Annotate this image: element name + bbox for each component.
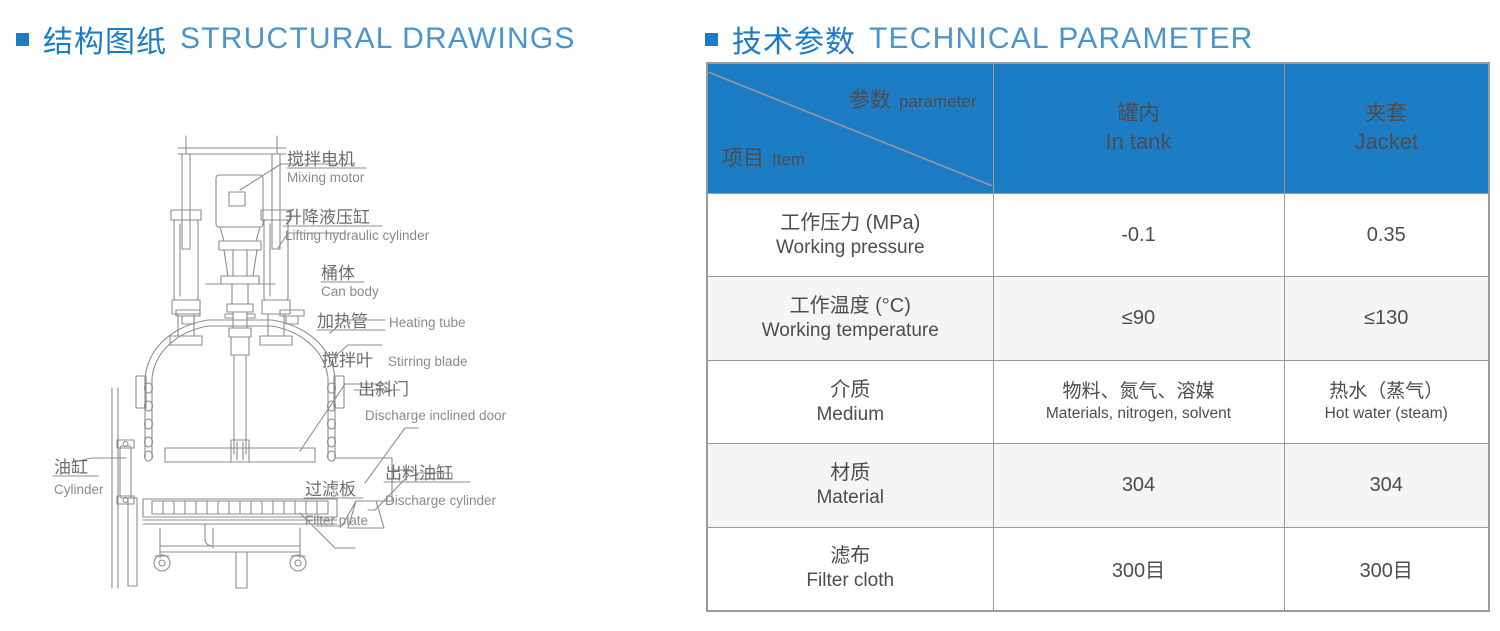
square-bullet-icon [705, 33, 718, 46]
section-title-cn: 结构图纸 [43, 17, 167, 61]
value-jacket: 304 [1284, 444, 1489, 527]
table-row: 工作压力 (MPa) Working pressure -0.1 0.35 [707, 194, 1489, 277]
callout-cn: 出斜门 [358, 380, 409, 399]
item-label-en: Material [715, 486, 986, 511]
table-header-row: 参数 parameter 项目 Item 罐内 In tank [707, 63, 1489, 194]
callout-en: Heating tube [389, 315, 466, 330]
callout-cn: 升降液压缸 [285, 207, 370, 227]
callout-cn: 出料油缸 [385, 463, 453, 483]
value-jacket: 0.35 [1284, 194, 1489, 277]
header-column-in-tank: 罐内 In tank [993, 63, 1284, 194]
item-label-en: Working pressure [715, 236, 986, 261]
page-root: 结构图纸 STRUCTURAL DRAWINGS 技术参数 TECHNICAL … [0, 0, 1500, 631]
callout-stirring-blade: 搅拌叶 Stirring blade [322, 351, 468, 370]
callout-cylinder: 油缸 Cylinder [54, 457, 104, 497]
section-heading-structural-drawings: 结构图纸 STRUCTURAL DRAWINGS [16, 17, 576, 61]
table-row: 滤布 Filter cloth 300目 300目 [707, 527, 1489, 611]
callout-en: Lifting hydraulic cylinder [285, 228, 430, 243]
value-in-tank: 304 [993, 444, 1284, 527]
item-label-en: Working temperature [715, 319, 986, 344]
square-bullet-icon [16, 33, 29, 46]
callout-en: Discharge cylinder [385, 493, 497, 508]
column-title-cn: 罐内 [994, 101, 1284, 128]
value-in-tank: 物料、氮气、溶媒 Materials, nitrogen, solvent [993, 360, 1284, 443]
callout-discharge-inclined-door: 出斜门 Discharge inclined door [358, 380, 507, 423]
item-label-cn: 滤布 [715, 543, 986, 569]
section-title-en: STRUCTURAL DRAWINGS [180, 22, 576, 56]
machine-line-drawing: 搅拌电机 Mixing motor 升降液压缸 Lifting hydrauli… [0, 58, 700, 618]
callout-cn: 搅拌叶 [322, 351, 373, 370]
value-in-tank: 300目 [993, 527, 1284, 611]
header-item-cn: 项目 [722, 142, 764, 172]
value-en: Hot water (steam) [1292, 404, 1482, 425]
callout-en: Stirring blade [388, 354, 468, 369]
row-item-cell: 工作压力 (MPa) Working pressure [707, 194, 993, 277]
value-cn: 物料、氮气、溶媒 [1001, 379, 1277, 405]
column-title-cn: 夹套 [1285, 101, 1489, 128]
callout-cn: 加热管 [317, 312, 368, 331]
callout-heating-tube: 加热管 Heating tube [317, 312, 466, 331]
section-title-en: TECHNICAL PARAMETER [869, 22, 1254, 56]
item-label-cn: 工作压力 (MPa) [715, 210, 986, 236]
callout-en: Discharge inclined door [365, 408, 507, 423]
value-jacket: ≤130 [1284, 277, 1489, 360]
item-label-cn: 材质 [715, 460, 986, 486]
value-jacket: 热水（蒸气） Hot water (steam) [1284, 360, 1489, 443]
value-in-tank: ≤90 [993, 277, 1284, 360]
header-parameter-en: parameter [899, 92, 976, 112]
callout-mixing-motor: 搅拌电机 Mixing motor [287, 150, 365, 185]
header-column-jacket: 夹套 Jacket [1284, 63, 1489, 194]
item-label-cn: 工作温度 (°C) [715, 293, 986, 319]
value-cn: 热水（蒸气） [1292, 379, 1482, 405]
table-row: 材质 Material 304 304 [707, 444, 1489, 527]
callout-en: Cylinder [54, 482, 104, 497]
row-item-cell: 介质 Medium [707, 360, 993, 443]
item-label-en: Medium [715, 403, 986, 428]
table-row: 介质 Medium 物料、氮气、溶媒 Materials, nitrogen, … [707, 360, 1489, 443]
callout-cn: 油缸 [54, 457, 88, 477]
value-en: Materials, nitrogen, solvent [1001, 404, 1277, 425]
table-row: 工作温度 (°C) Working temperature ≤90 ≤130 [707, 277, 1489, 360]
row-item-cell: 工作温度 (°C) Working temperature [707, 277, 993, 360]
technical-parameter-table: 参数 parameter 项目 Item 罐内 In tank [706, 62, 1490, 612]
callout-cn: 过滤板 [305, 480, 356, 499]
callout-can-body: 桶体 Can body [321, 264, 379, 299]
callout-cn: 桶体 [321, 264, 355, 283]
callout-discharge-cylinder: 出料油缸 Discharge cylinder [385, 463, 497, 508]
callout-en: Mixing motor [287, 170, 365, 185]
callout-en: Can body [321, 284, 379, 299]
section-title-cn: 技术参数 [732, 17, 856, 61]
callout-lifting-hydraulic-cylinder: 升降液压缸 Lifting hydraulic cylinder [285, 207, 430, 243]
value-jacket: 300目 [1284, 527, 1489, 611]
column-title-en: Jacket [1285, 128, 1489, 156]
value-in-tank: -0.1 [993, 194, 1284, 277]
row-item-cell: 滤布 Filter cloth [707, 527, 993, 611]
header-corner-cell: 参数 parameter 项目 Item [707, 63, 993, 194]
item-label-en: Filter cloth [715, 569, 986, 594]
callout-en: Filter plate [305, 513, 368, 528]
callout-cn: 搅拌电机 [287, 150, 355, 169]
row-item-cell: 材质 Material [707, 444, 993, 527]
header-parameter-cn: 参数 [849, 84, 891, 114]
header-item-en: Item [772, 150, 805, 170]
column-title-en: In tank [994, 128, 1284, 156]
section-heading-technical-parameter: 技术参数 TECHNICAL PARAMETER [705, 17, 1254, 61]
item-label-cn: 介质 [715, 377, 986, 403]
structural-drawing: 搅拌电机 Mixing motor 升降液压缸 Lifting hydrauli… [0, 58, 700, 618]
